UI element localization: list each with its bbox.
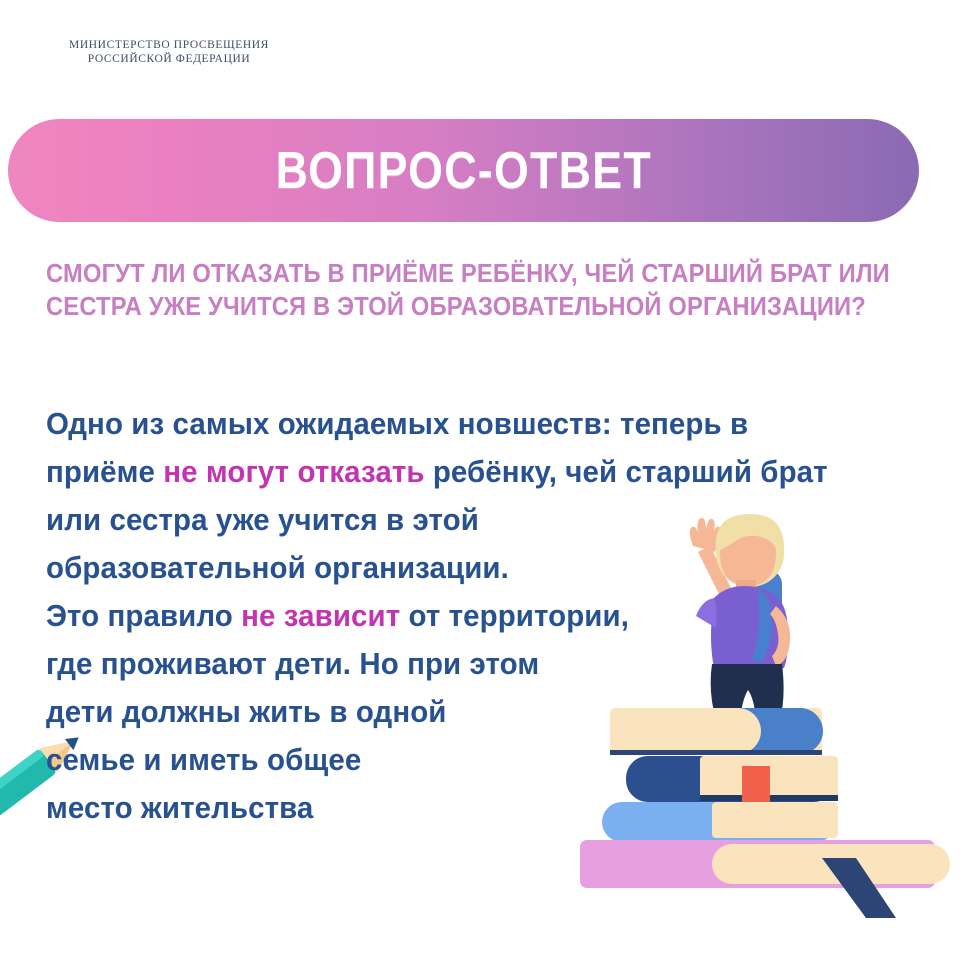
- answer-line-1: Одно из самых ожидаемых новшеств: теперь…: [46, 400, 901, 448]
- answer-line-5-pre: Это правило: [46, 598, 241, 633]
- answer-line-9: место жительства: [46, 784, 901, 832]
- answer-line-2: приёме не могут отказать ребёнку, чей ст…: [46, 448, 901, 496]
- answer-highlight-1: не могут отказать: [163, 454, 424, 489]
- answer-line-5-post: от территории,: [400, 598, 629, 633]
- answer-highlight-2: не зависит: [241, 598, 400, 633]
- answer-line-8: семье и иметь общее: [46, 736, 901, 784]
- answer-line-2-post: ребёнку, чей старший брат: [425, 454, 828, 489]
- question-line-2: СЕСТРА УЖЕ УЧИТСЯ В ЭТОЙ ОБРАЗОВАТЕЛЬНОЙ…: [46, 291, 864, 324]
- question-line-1: СМОГУТ ЛИ ОТКАЗАТЬ В ПРИЁМЕ РЕБЁНКУ, ЧЕЙ…: [46, 258, 864, 291]
- answer-body: Одно из самых ожидаемых новшеств: теперь…: [46, 400, 946, 832]
- banner: ВОПРОС-ОТВЕТ: [8, 119, 919, 222]
- question-heading: СМОГУТ ЛИ ОТКАЗАТЬ В ПРИЁМЕ РЕБЁНКУ, ЧЕЙ…: [46, 258, 926, 324]
- answer-line-2-pre: приёме: [46, 454, 163, 489]
- answer-line-5: Это правило не зависит от территории,: [46, 592, 901, 640]
- answer-line-7: дети должны жить в одной: [46, 688, 901, 736]
- answer-line-3: или сестра уже учится в этой: [46, 496, 901, 544]
- ministry-logo-line-1: МИНИСТЕРСТВО ПРОСВЕЩЕНИЯ: [44, 38, 294, 52]
- banner-title: ВОПРОС-ОТВЕТ: [275, 141, 651, 201]
- answer-line-6: где проживают дети. Но при этом: [46, 640, 901, 688]
- ministry-logo-line-2: РОССИЙСКОЙ ФЕДЕРАЦИИ: [44, 52, 294, 66]
- answer-line-4: образовательной организации.: [46, 544, 901, 592]
- poster-canvas: МИНИСТЕРСТВО ПРОСВЕЩЕНИЯ РОССИЙСКОЙ ФЕДЕ…: [0, 0, 960, 960]
- ministry-logo: МИНИСТЕРСТВО ПРОСВЕЩЕНИЯ РОССИЙСКОЙ ФЕДЕ…: [44, 38, 294, 67]
